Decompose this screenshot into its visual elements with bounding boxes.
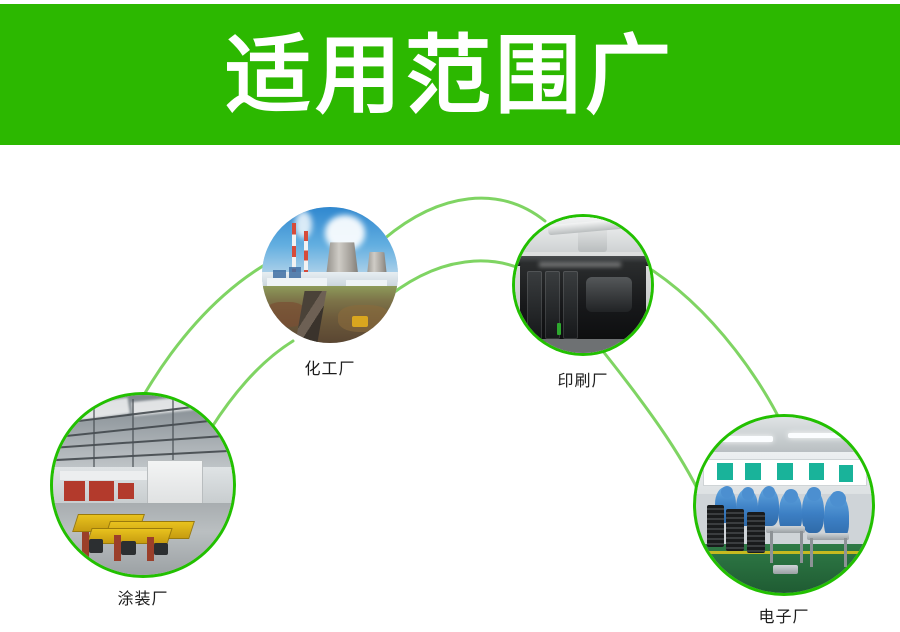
node-label-chemical-plant: 化工厂	[230, 355, 430, 379]
motor-unit	[89, 539, 103, 553]
bench-leg	[800, 531, 803, 563]
ceiling-light	[721, 436, 774, 441]
node-label-electronics-factory: 电子厂	[684, 603, 884, 627]
bench-leg	[810, 538, 813, 566]
ceiling-light	[788, 433, 848, 438]
green-indicator	[557, 323, 561, 335]
motor-unit	[154, 543, 168, 556]
roof-purlin	[93, 399, 95, 471]
chemical-plant-photo[interactable]	[262, 207, 398, 343]
node-electronics-factory[interactable]: 电子厂	[696, 417, 872, 593]
floor-box	[773, 565, 798, 574]
node-coating-plant[interactable]: 涂装厂	[53, 395, 233, 575]
motor-unit	[121, 541, 135, 555]
press-unit	[563, 271, 578, 339]
worker-hood	[721, 486, 733, 498]
press-unit	[527, 271, 542, 339]
worker-hood	[830, 491, 846, 507]
highlight-reflection	[539, 262, 621, 267]
node-chemical-plant[interactable]: 化工厂	[262, 207, 398, 343]
worker-hood	[763, 486, 775, 498]
overhead-rig	[60, 471, 146, 480]
node-label-printing-factory: 印刷厂	[483, 367, 683, 391]
table-frame	[147, 537, 154, 560]
header-banner: 适用范围广	[0, 4, 900, 145]
component-tray-stack	[726, 509, 744, 551]
teal-panel	[745, 463, 761, 481]
node-printing-factory[interactable]: 印刷厂	[515, 217, 651, 353]
yellow-machinery	[352, 316, 368, 327]
worker-hood	[742, 487, 754, 499]
electronics-factory-photo[interactable]	[696, 417, 872, 593]
red-equipment	[64, 481, 86, 501]
component-tray-stack	[707, 505, 725, 547]
page-title: 适用范围广	[225, 33, 675, 119]
page-root: 适用范围广	[0, 0, 900, 632]
table-frame	[82, 532, 89, 557]
red-equipment	[89, 481, 114, 501]
printing-factory-photo[interactable]	[515, 217, 651, 353]
teal-panel	[777, 463, 793, 481]
red-equipment	[118, 483, 134, 499]
roof-purlin	[132, 399, 134, 471]
floor	[515, 339, 651, 353]
component-tray-stack	[747, 512, 765, 552]
application-scope-diagram: 化工厂	[0, 145, 900, 632]
press-roller-assembly	[586, 277, 632, 312]
teal-panel	[717, 463, 733, 481]
teal-panel	[809, 463, 825, 481]
bench-leg	[770, 531, 773, 563]
node-label-coating-plant: 涂装厂	[43, 585, 243, 609]
coating-plant-photo[interactable]	[53, 395, 233, 575]
teal-panel	[839, 465, 853, 483]
table-frame	[114, 535, 121, 560]
bench-leg	[844, 538, 847, 566]
